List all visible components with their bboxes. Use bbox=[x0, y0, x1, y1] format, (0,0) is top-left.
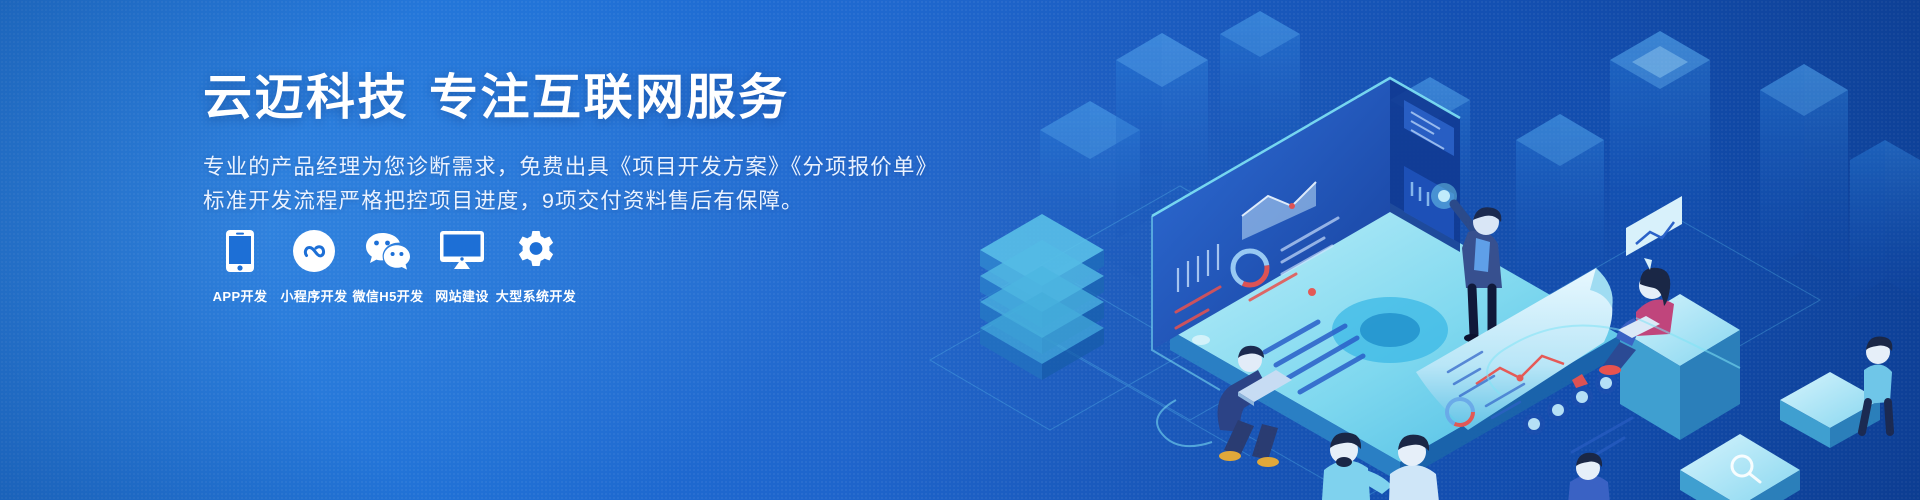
page-title: 云迈科技专注互联网服务 bbox=[203, 70, 923, 128]
magnifier-block bbox=[1680, 434, 1800, 500]
service-item-large-system[interactable]: 大型系统开发 bbox=[499, 228, 573, 305]
service-item-mini-program[interactable]: 小程序开发 bbox=[277, 228, 351, 305]
subtitle-line-1: 专业的产品经理为您诊断需求，免费出具《项目开发方案》《分项报价单》 bbox=[203, 150, 923, 184]
isometric-illustration bbox=[920, 0, 1920, 500]
service-label: APP开发 bbox=[213, 286, 268, 305]
service-item-website[interactable]: 网站建设 bbox=[425, 228, 499, 305]
subtitle-line-2: 标准开发流程严格把控项目进度，9项交付资料售后有保障。 bbox=[203, 184, 923, 218]
service-label: 小程序开发 bbox=[280, 286, 347, 305]
banner-copy: 云迈科技专注互联网服务 专业的产品经理为您诊断需求，免费出具《项目开发方案》《分… bbox=[203, 70, 923, 218]
service-list: APP开发 小程序开发 微信 bbox=[203, 228, 573, 305]
service-label: 微信H5开发 bbox=[352, 286, 423, 305]
desktop-monitor-icon bbox=[439, 228, 485, 274]
mobile-phone-icon bbox=[217, 228, 263, 274]
service-label: 大型系统开发 bbox=[496, 286, 576, 305]
banner-subtitle: 专业的产品经理为您诊断需求，免费出具《项目开发方案》《分项报价单》 标准开发流程… bbox=[203, 150, 923, 218]
headline-brand: 云迈科技 bbox=[203, 71, 409, 125]
service-item-app[interactable]: APP开发 bbox=[203, 228, 277, 305]
wechat-icon bbox=[365, 228, 411, 274]
service-label: 网站建设 bbox=[435, 286, 489, 305]
mini-program-icon bbox=[291, 228, 337, 274]
gear-icon bbox=[513, 228, 559, 274]
hero-banner: 云迈科技专注互联网服务 专业的产品经理为您诊断需求，免费出具《项目开发方案》《分… bbox=[0, 0, 1920, 500]
headline-tagline: 专注互联网服务 bbox=[429, 71, 790, 125]
service-item-wechat-h5[interactable]: 微信H5开发 bbox=[351, 228, 425, 305]
